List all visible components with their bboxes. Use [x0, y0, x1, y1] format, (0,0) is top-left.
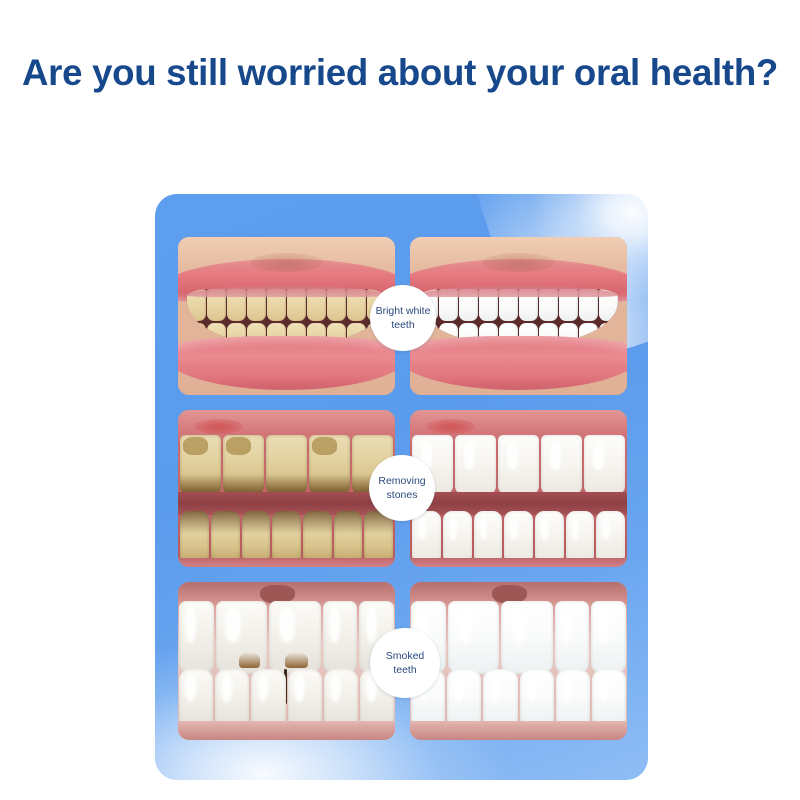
tooth — [541, 435, 582, 495]
tooth — [535, 511, 564, 561]
smile-illustration-yellow — [178, 237, 395, 395]
photo-before-smoked-teeth — [178, 582, 395, 740]
tooth — [412, 511, 441, 561]
lower-teeth-row — [179, 669, 394, 726]
lower-gum — [410, 558, 627, 567]
tooth — [555, 601, 589, 674]
tooth — [447, 669, 481, 726]
tooth — [251, 669, 285, 726]
tooth — [180, 511, 209, 561]
frontal-illustration-stained — [178, 582, 395, 740]
tooth — [272, 511, 301, 561]
tooth — [483, 669, 517, 726]
tooth — [180, 435, 221, 495]
tooth — [474, 511, 503, 561]
tooth — [455, 435, 496, 495]
upper-teeth-row — [412, 435, 625, 495]
tooth — [215, 669, 249, 726]
photo-after-removing-stones — [410, 410, 627, 568]
lower-lip — [410, 336, 627, 390]
lower-teeth-row — [180, 511, 393, 561]
tooth — [556, 669, 590, 726]
lower-gum — [178, 721, 395, 740]
tooth-central-incisor — [448, 601, 500, 674]
tooth — [584, 435, 625, 495]
upper-teeth-row — [180, 435, 393, 495]
tooth-central-incisor — [216, 601, 268, 674]
tooth — [591, 601, 625, 674]
photo-before-removing-stones — [178, 410, 395, 568]
tooth-central-incisor — [269, 601, 321, 674]
smile-illustration-white — [410, 237, 627, 395]
lower-lip — [178, 336, 395, 390]
tooth — [242, 511, 271, 561]
tooth — [323, 601, 357, 674]
tooth — [566, 511, 595, 561]
tooth — [211, 511, 240, 561]
closeup-illustration-clean — [410, 410, 627, 568]
tooth — [324, 669, 358, 726]
page-title: Are you still worried about your oral he… — [22, 52, 784, 94]
tooth — [309, 435, 350, 495]
upper-teeth-row — [179, 601, 394, 674]
frontal-illustration-bright — [410, 582, 627, 740]
tooth — [592, 669, 626, 726]
photo-before-bright-white-teeth — [178, 237, 395, 395]
tooth — [520, 669, 554, 726]
tooth — [288, 669, 322, 726]
tooth — [596, 511, 625, 561]
tooth — [498, 435, 539, 495]
badge-bright-white-teeth: Bright white teeth — [370, 285, 436, 351]
lower-gum — [410, 721, 627, 740]
tooth — [179, 669, 213, 726]
photo-after-bright-white-teeth — [410, 237, 627, 395]
tooth — [334, 511, 363, 561]
closeup-illustration-tartar — [178, 410, 395, 568]
tooth — [179, 601, 213, 674]
tooth-central-incisor — [501, 601, 553, 674]
upper-teeth-row — [411, 601, 626, 674]
tooth — [504, 511, 533, 561]
lower-teeth-row — [412, 511, 625, 561]
tooth — [266, 435, 307, 495]
badge-removing-stones: Removing stones — [369, 455, 435, 521]
badge-smoked-teeth: Smoked teeth — [370, 628, 440, 698]
lower-gum — [178, 558, 395, 567]
lower-teeth-row — [411, 669, 626, 726]
photo-after-smoked-teeth — [410, 582, 627, 740]
tooth — [223, 435, 264, 495]
tooth — [443, 511, 472, 561]
tooth — [303, 511, 332, 561]
